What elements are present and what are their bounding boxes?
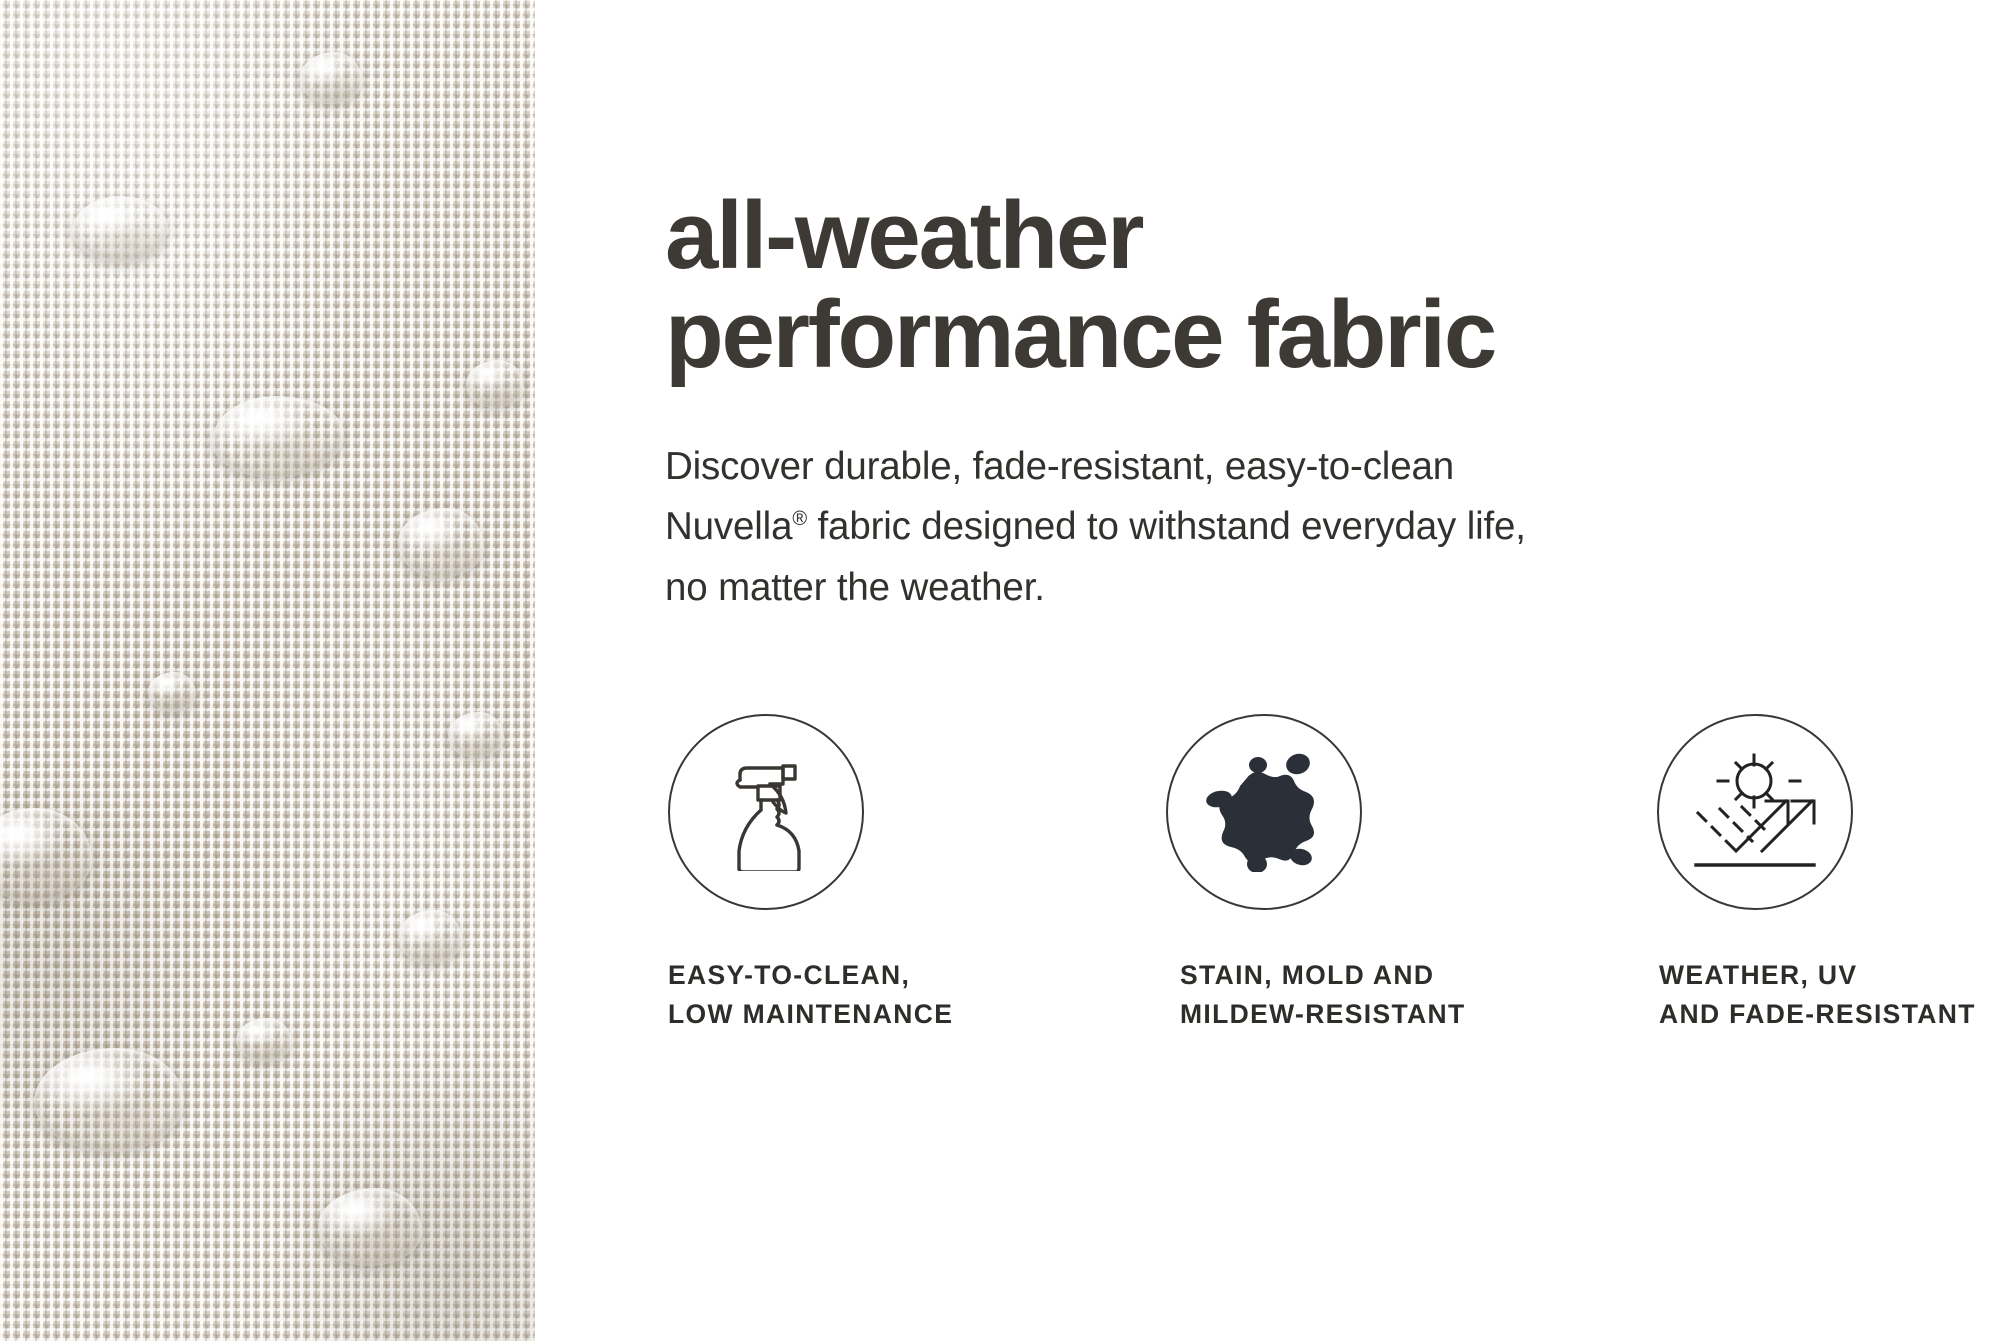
water-droplet (398, 910, 462, 964)
content-panel: all-weather performance fabric Discover … (535, 0, 2010, 1341)
feature-label: STAIN, MOLD AND MILDEW-RESISTANT (1166, 956, 1466, 1033)
feature-list: EASY-TO-CLEAN, LOW MAINTENANCE (665, 714, 2010, 1033)
feature-label-line-2: LOW MAINTENANCE (668, 995, 953, 1034)
feature-easy-to-clean: EASY-TO-CLEAN, LOW MAINTENANCE (668, 714, 1123, 1033)
body-line-2: Nuvella® fabric designed to withstand ev… (665, 497, 1895, 557)
water-droplet (300, 52, 362, 104)
registered-mark: ® (792, 508, 807, 530)
body-copy: Discover durable, fade-resistant, easy-t… (665, 437, 1895, 618)
feature-weather-uv-fade: WEATHER, UV AND FADE-RESISTANT (1578, 714, 2010, 1033)
feature-label-line-2: MILDEW-RESISTANT (1180, 995, 1466, 1034)
feature-label-line-1: WEATHER, UV (1659, 956, 1976, 995)
all-weather-fabric-banner: all-weather performance fabric Discover … (0, 0, 2010, 1341)
body-line-1: Discover durable, fade-resistant, easy-t… (665, 437, 1895, 497)
feature-icon-badge (1166, 714, 1362, 910)
stain-splat-icon (1202, 752, 1326, 872)
feature-label: WEATHER, UV AND FADE-RESISTANT (1657, 956, 1976, 1033)
water-droplet (318, 1188, 422, 1266)
brand-line-suffix: fabric designed to withstand everyday li… (807, 505, 1526, 548)
water-droplet (34, 1048, 184, 1152)
fabric-photo (0, 0, 535, 1341)
feature-icon-badge (668, 714, 864, 910)
feature-label: EASY-TO-CLEAN, LOW MAINTENANCE (668, 956, 953, 1033)
water-droplet (148, 672, 196, 712)
headline-line-2: performance fabric (665, 285, 1965, 384)
headline-line-1: all-weather (665, 186, 1965, 285)
feature-stain-mold-mildew: STAIN, MOLD AND MILDEW-RESISTANT (1123, 714, 1578, 1033)
water-droplet (72, 196, 168, 262)
body-line-3: no matter the weather. (665, 558, 1895, 618)
sun-uv-fade-icon (1690, 753, 1820, 871)
water-droplet (398, 508, 484, 578)
feature-label-line-2: AND FADE-RESISTANT (1659, 995, 1976, 1034)
water-droplet (448, 712, 504, 758)
water-droplet (466, 360, 524, 408)
page-title: all-weather performance fabric (665, 186, 1965, 385)
brand-name: Nuvella (665, 505, 792, 548)
feature-label-line-1: EASY-TO-CLEAN, (668, 956, 953, 995)
feature-icon-badge (1657, 714, 1853, 910)
feature-label-line-1: STAIN, MOLD AND (1180, 956, 1466, 995)
water-droplet (236, 1018, 292, 1062)
spray-bottle-icon (710, 753, 822, 871)
